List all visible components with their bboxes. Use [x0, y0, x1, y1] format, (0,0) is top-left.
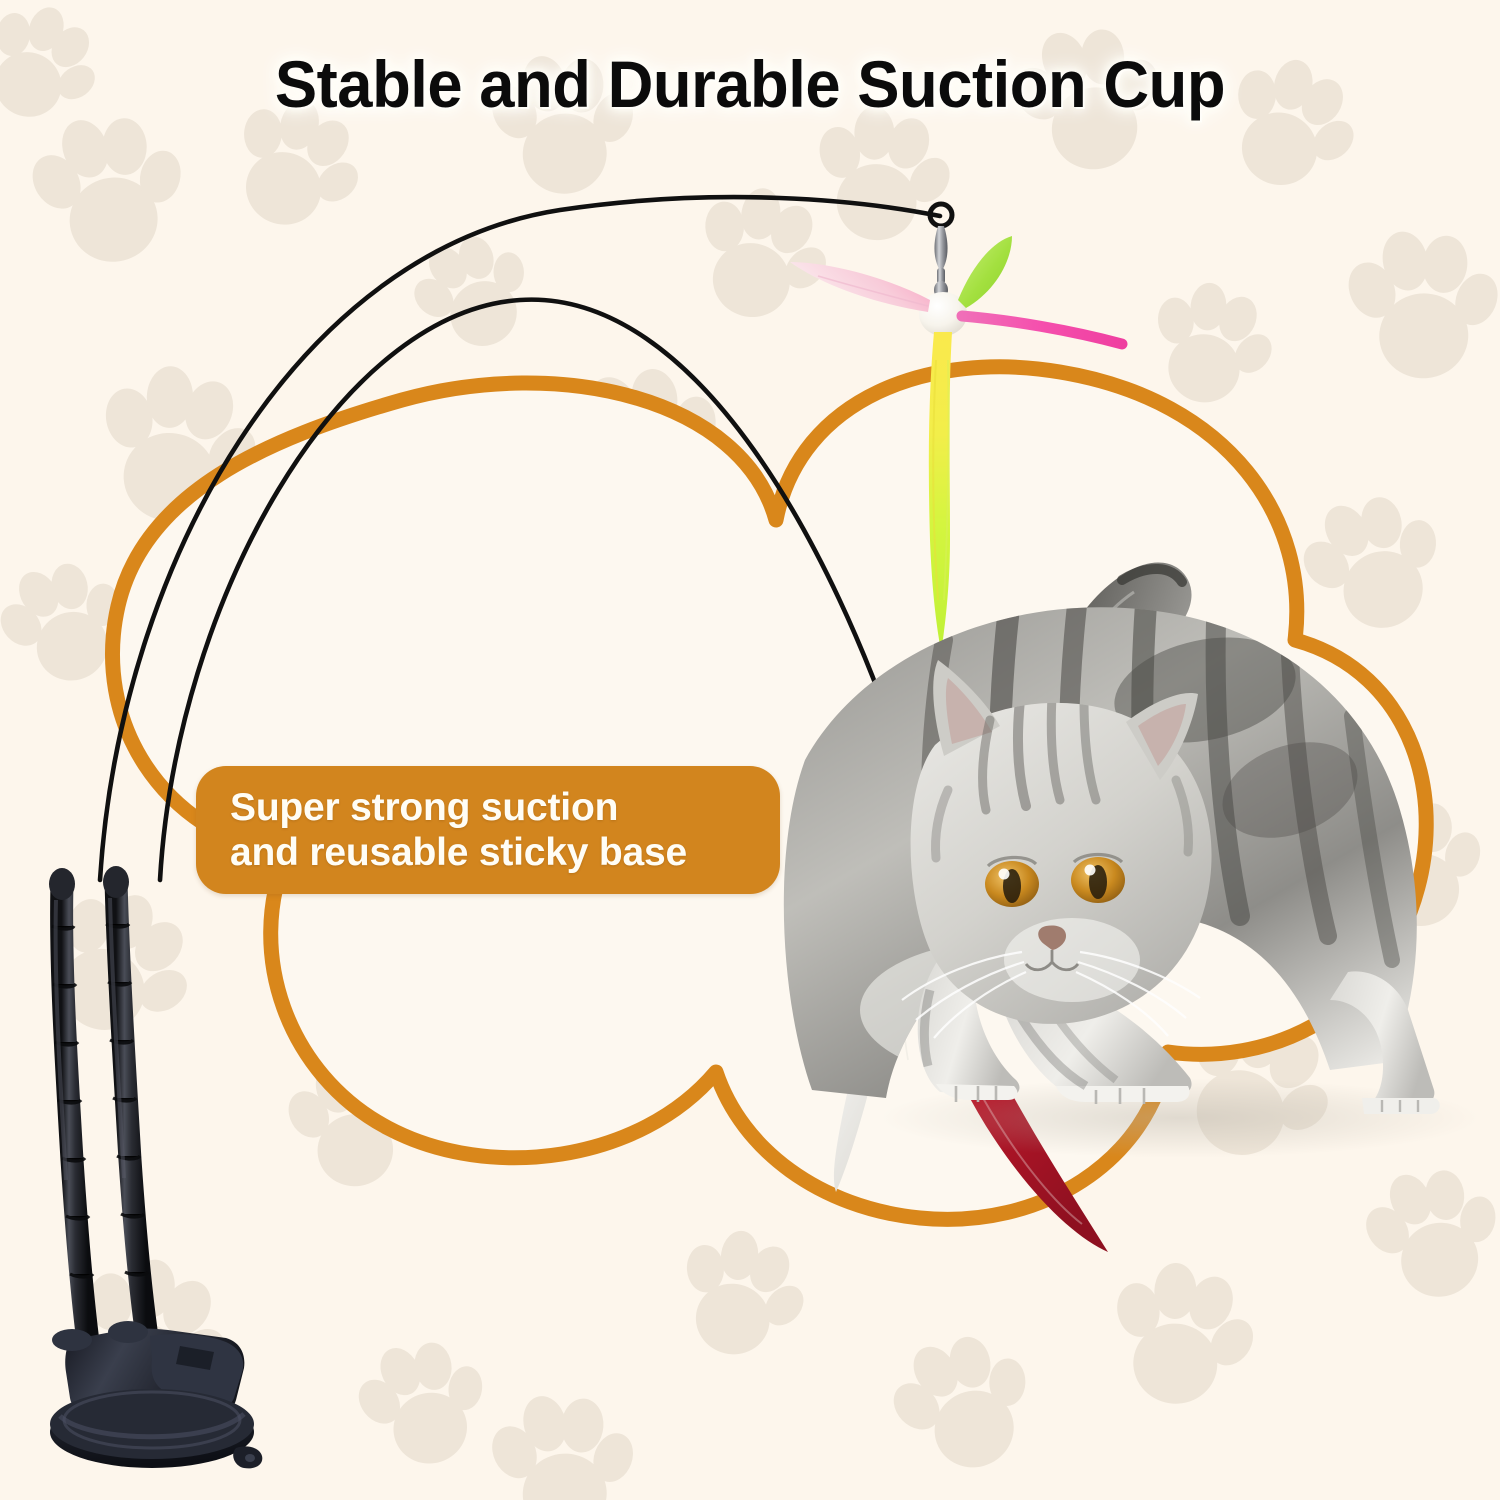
wing-tube-pink — [962, 316, 1122, 344]
suction-cup-assembly — [49, 866, 262, 1468]
callout-line-1: Super strong suction — [230, 785, 746, 830]
product-artwork — [0, 0, 1500, 1500]
socket-left — [52, 1329, 92, 1351]
page-title: Stable and Durable Suction Cup — [30, 46, 1470, 122]
cat-front-paw-right — [1056, 1086, 1190, 1102]
socket-right — [108, 1321, 148, 1343]
lobster-clasp-icon — [934, 226, 947, 272]
flexible-rod-left — [49, 868, 93, 1342]
wing-leaf-green — [958, 236, 1012, 308]
flexible-rod-right — [103, 866, 148, 1330]
feature-callout-badge: Super strong suction and reusable sticky… — [196, 766, 780, 894]
product-infographic-poster: Stable and Durable Suction Cup Super str… — [0, 0, 1500, 1500]
callout-line-2: and reusable sticky base — [230, 830, 746, 875]
